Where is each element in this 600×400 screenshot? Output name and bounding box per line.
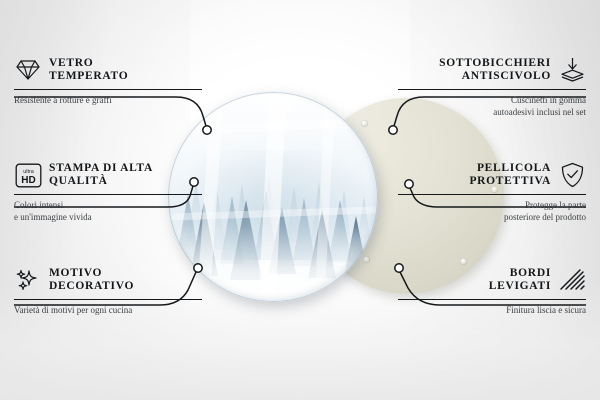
feature-title-line2: DECORATIVO: [49, 280, 134, 294]
feature-smooth-edges: BORDI LEVIGATI Finitura liscia e sicura: [398, 266, 586, 317]
press-pad-icon: [558, 56, 586, 84]
feature-title-line2: PROTETTIVA: [469, 175, 551, 189]
feature-description-line1: Protegge la parte: [398, 200, 586, 212]
divider: [14, 89, 202, 90]
infographic-canvas: VETRO TEMPERATO Resistente a rotture e g…: [0, 0, 600, 400]
svg-text:HD: HD: [21, 175, 35, 186]
feature-title-line2: TEMPERATO: [49, 70, 128, 84]
feature-description-line2: e un'immagine vivida: [14, 212, 202, 224]
feature-title-line1: VETRO: [49, 57, 128, 71]
feature-description-line2: autoadesivi inclusi nel set: [398, 107, 586, 119]
feature-decorative-motif: MOTIVO DECORATIVO Varietà di motivi per …: [14, 266, 202, 317]
feature-title-line1: PELLICOLA: [469, 162, 551, 176]
feature-title-line2: QUALITÀ: [49, 175, 153, 189]
feature-description-line1: Colori intensi: [14, 200, 202, 212]
feature-tempered-glass: VETRO TEMPERATO Resistente a rotture e g…: [14, 56, 202, 107]
feature-title-line2: ANTISCIVOLO: [439, 70, 551, 84]
divider: [398, 299, 586, 300]
smooth-edges-icon: [558, 266, 586, 294]
feature-description-line1: Cuscinetti in gomma: [398, 95, 586, 107]
feature-non-slip-coasters: SOTTOBICCHIERI ANTISCIVOLO Cuscinetti in…: [398, 56, 586, 118]
shield-check-icon: [558, 161, 586, 189]
divider: [398, 89, 586, 90]
ultra-hd-badge-icon: ultra HD: [14, 161, 42, 189]
feature-protective-film: PELLICOLA PROTETTIVA Protegge la parte p…: [398, 161, 586, 223]
feature-description: Finitura liscia e sicura: [398, 305, 586, 317]
diamond-icon: [14, 56, 42, 84]
rubber-pad: [460, 258, 467, 265]
feature-title-line1: SOTTOBICCHIERI: [439, 57, 551, 71]
feature-description: Resistente a rotture e graffi: [14, 95, 202, 107]
feature-title-line2: LEVIGATI: [489, 280, 551, 294]
sparkles-icon: [14, 266, 42, 294]
divider: [398, 194, 586, 195]
feature-title-line1: MOTIVO: [49, 267, 134, 281]
feature-description-line2: posteriore del prodotto: [398, 212, 586, 224]
divider: [14, 194, 202, 195]
feature-description: Varietà di motivi per ogni cucina: [14, 305, 202, 317]
feature-high-quality-print: ultra HD STAMPA DI ALTA QUALITÀ Colori i…: [14, 161, 202, 223]
divider: [14, 299, 202, 300]
feature-title-line1: BORDI: [489, 267, 551, 281]
feature-title-line1: STAMPA DI ALTA: [49, 162, 153, 176]
